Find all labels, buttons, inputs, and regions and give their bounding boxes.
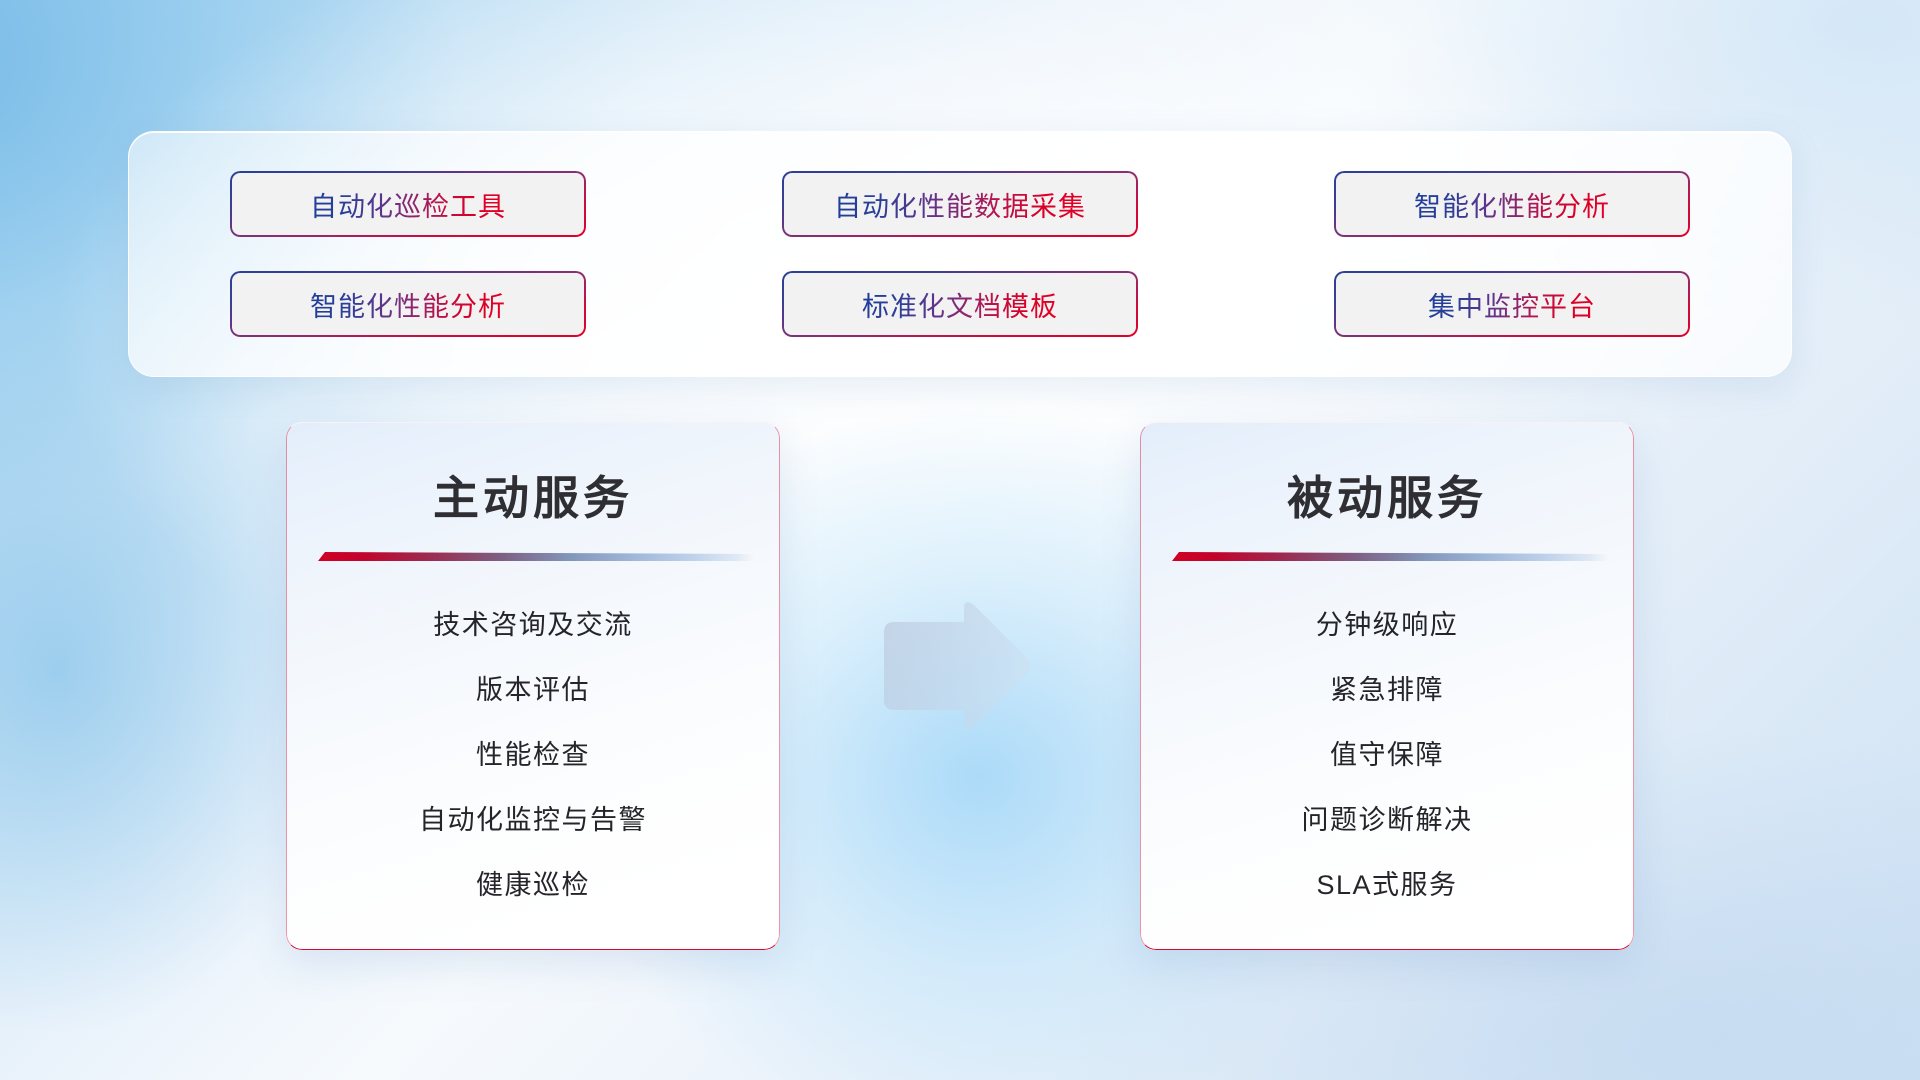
capability-pill-5[interactable]: 标准化文档模板 bbox=[782, 271, 1138, 337]
capability-pill-2[interactable]: 自动化性能数据采集 bbox=[782, 171, 1138, 237]
capability-pill-label: 自动化性能数据采集 bbox=[834, 185, 1086, 224]
list-item: 版本评估 bbox=[476, 668, 590, 707]
capability-panel: 自动化巡检工具 自动化性能数据采集 智能化性能分析 智能化性能分析 标准化文档模… bbox=[128, 131, 1792, 377]
capability-pill-grid: 自动化巡检工具 自动化性能数据采集 智能化性能分析 智能化性能分析 标准化文档模… bbox=[230, 171, 1690, 337]
service-card-active: 主动服务 技术咨询及交流 版本评估 性能检查 自动化监控与告警 健康巡检 bbox=[286, 422, 780, 950]
divider-bar bbox=[318, 552, 754, 561]
divider-bar bbox=[1172, 552, 1608, 561]
capability-pill-4[interactable]: 智能化性能分析 bbox=[230, 271, 586, 337]
card-divider-passive bbox=[1172, 552, 1608, 563]
capability-pill-6[interactable]: 集中监控平台 bbox=[1334, 271, 1690, 337]
list-item: 紧急排障 bbox=[1330, 668, 1444, 707]
card-divider-active bbox=[318, 552, 754, 563]
card-title-active: 主动服务 bbox=[286, 462, 780, 528]
arrow-right-icon bbox=[876, 600, 1034, 732]
list-item: 自动化监控与告警 bbox=[419, 798, 647, 837]
capability-pill-1[interactable]: 自动化巡检工具 bbox=[230, 171, 586, 237]
capability-pill-label: 标准化文档模板 bbox=[862, 285, 1058, 324]
capability-pill-label: 集中监控平台 bbox=[1428, 285, 1596, 324]
list-item: 问题诊断解决 bbox=[1302, 798, 1473, 837]
service-list-passive: 分钟级响应 紧急排障 值守保障 问题诊断解决 SLA式服务 bbox=[1140, 603, 1634, 902]
capability-pill-label: 智能化性能分析 bbox=[1414, 185, 1610, 224]
list-item: SLA式服务 bbox=[1316, 863, 1457, 902]
service-card-passive: 被动服务 分钟级响应 紧急排障 值守保障 问题诊断解决 SLA式服务 bbox=[1140, 422, 1634, 950]
list-item: 性能检查 bbox=[476, 733, 590, 772]
service-list-active: 技术咨询及交流 版本评估 性能检查 自动化监控与告警 健康巡检 bbox=[286, 603, 780, 902]
list-item: 健康巡检 bbox=[476, 863, 590, 902]
list-item: 分钟级响应 bbox=[1316, 603, 1459, 642]
list-item: 值守保障 bbox=[1330, 733, 1444, 772]
capability-pill-label: 智能化性能分析 bbox=[310, 285, 506, 324]
card-title-passive: 被动服务 bbox=[1140, 462, 1634, 528]
capability-pill-label: 自动化巡检工具 bbox=[310, 185, 506, 224]
list-item: 技术咨询及交流 bbox=[433, 603, 633, 642]
slide-canvas: 自动化巡检工具 自动化性能数据采集 智能化性能分析 智能化性能分析 标准化文档模… bbox=[0, 0, 1920, 1080]
capability-pill-3[interactable]: 智能化性能分析 bbox=[1334, 171, 1690, 237]
